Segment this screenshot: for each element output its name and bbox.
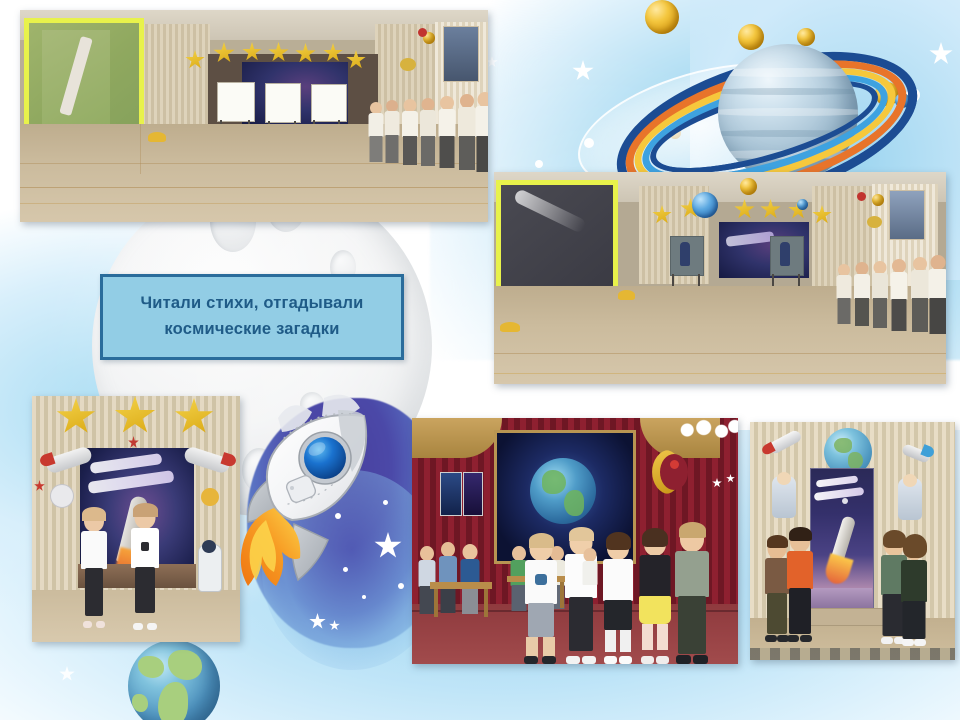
photo-hall-second-view xyxy=(494,172,946,384)
photo-two-girls-stage xyxy=(32,396,240,642)
caption-textbox: Читали стихи, отгадывали космические заг… xyxy=(100,274,404,360)
star-dot xyxy=(535,160,543,168)
photo-children-line xyxy=(412,418,738,664)
photo-hall-projector xyxy=(20,10,488,222)
photo-banner-kids xyxy=(750,422,955,660)
caption-line-2: космические загадки xyxy=(164,317,339,343)
caption-line-1: Читали стихи, отгадывали xyxy=(141,291,364,317)
slide-canvas: Читали стихи, отгадывали космические заг… xyxy=(0,0,960,720)
cartoon-rocket-graphic xyxy=(232,392,412,622)
